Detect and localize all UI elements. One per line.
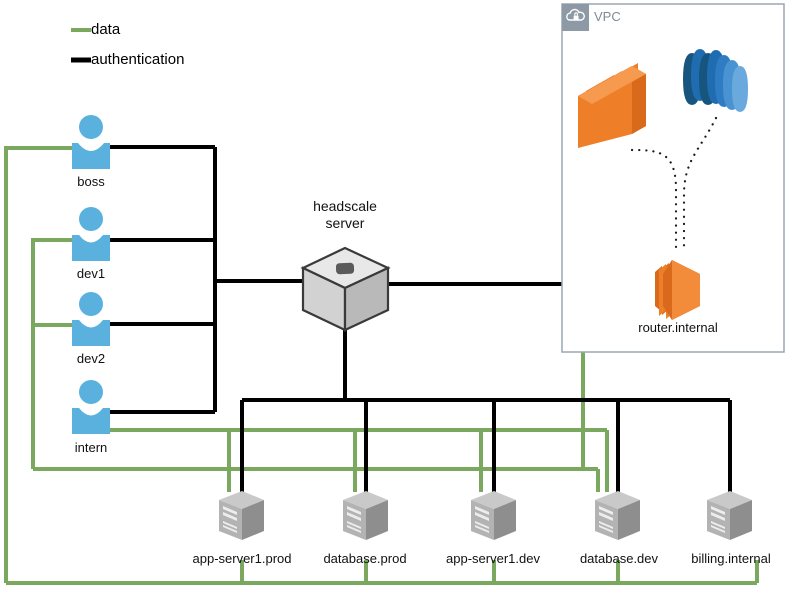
server-label-database-prod: database.prod [300,551,430,566]
servers-layer [0,0,792,593]
server-icon-database-dev [595,491,640,540]
server-icon-database-prod [343,491,388,540]
server-label-billing-internal: billing.internal [667,551,792,566]
server-label-app-server1-dev: app-server1.dev [428,551,558,566]
server-icon-billing-internal [707,491,752,540]
network-diagram-canvas: data authentication VPC [0,0,792,593]
server-icon-app-server1-dev [471,491,516,540]
server-label-app-server1-prod: app-server1.prod [172,551,312,566]
server-label-database-dev: database.dev [556,551,682,566]
server-icon-app-server1-prod [219,491,264,540]
